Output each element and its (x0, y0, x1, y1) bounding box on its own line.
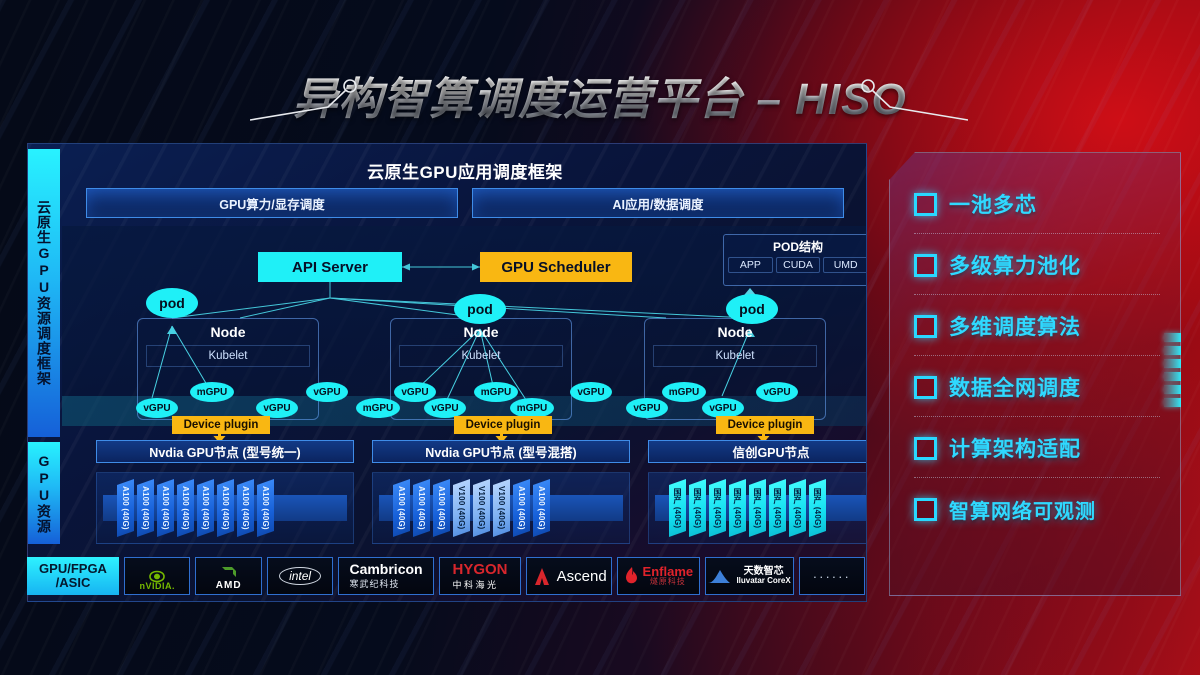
checkbox-icon (914, 376, 937, 399)
gpu-group-2-tray: A100 (40G) A100 (40G) A100 (40G) V100 (4… (372, 472, 630, 544)
node-2-gpu-0[interactable]: vGPU (394, 382, 436, 402)
feature-panel-accent (1164, 333, 1182, 419)
checkbox-icon (914, 193, 937, 216)
gpu-card[interactable]: 国产 (40G) (729, 479, 746, 537)
gpu-group-3-title: 信创GPU节点 (648, 440, 867, 463)
gpu-card[interactable]: V100 (40G) (493, 479, 510, 537)
feature-label-3: 数据全网调度 (949, 372, 1081, 402)
gpu-card[interactable]: 国产 (40G) (749, 479, 766, 537)
sidebar-tab-framework-label: 云原生GPU资源调度框架 (37, 200, 51, 386)
gpu-card-label: A100 (40G) (221, 486, 230, 530)
feature-item-5[interactable]: 智算网络可观测 (914, 480, 1164, 538)
vendor-logo-hygon[interactable]: HYGON 中 科 海 光 (439, 557, 522, 595)
feature-panel: 一池多芯 多级算力池化 多维调度算法 数据全网调度 计算架构适配 智算网络可观测 (889, 152, 1181, 596)
pod-cell-app: APP (728, 257, 773, 273)
vendor-category-label: GPU/FPGA /ASIC (27, 557, 119, 595)
node-3-pod[interactable]: pod (726, 294, 778, 324)
gpu-group-2-cards: A100 (40G) A100 (40G) A100 (40G) V100 (4… (393, 479, 550, 537)
node-3-gpu-2[interactable]: vGPU (756, 382, 798, 402)
pod-cell-umd: UMD (823, 257, 867, 273)
checkbox-icon (914, 315, 937, 338)
gpu-card[interactable]: A100 (40G) (433, 479, 450, 537)
node-1-gpu-3[interactable]: vGPU (306, 382, 348, 402)
vendor-strip: GPU/FPGA /ASIC nVIDIA. AMD intel Cambric (27, 557, 865, 595)
gpu-card-label: 国产 (40G) (792, 488, 803, 528)
vendor-name-amd: AMD (216, 580, 242, 591)
title-flourish-right (848, 62, 968, 128)
node-1-kubelet: Kubelet (146, 345, 310, 367)
feature-item-3[interactable]: 数据全网调度 (914, 358, 1164, 416)
node-3-gpu-1[interactable]: vGPU (702, 398, 744, 418)
node-3-gpu-extra[interactable]: vGPU (626, 398, 668, 418)
vendor-logo-nvidia[interactable]: nVIDIA. (124, 557, 190, 595)
feature-separator (914, 294, 1160, 295)
node-2-gpu-4[interactable]: vGPU (570, 382, 612, 402)
panel-body: 云原生GPU应用调度框架 GPU算力/显存调度 AI应用/数据调度 (62, 144, 866, 601)
vendor-subname-cambricon: 寒武纪科技 (349, 577, 422, 590)
iluvatar-wave-icon (707, 567, 731, 585)
page-title: 异构智算调度运营平台 – HISO (293, 63, 907, 127)
gpu-card[interactable]: A100 (40G) (157, 479, 174, 537)
gpu-card[interactable]: 国产 (40G) (809, 479, 826, 537)
vendor-logo-cambricon[interactable]: Cambricon 寒武纪科技 (338, 557, 433, 595)
scheduling-zone: API Server GPU Scheduler POD结构 APP CUDA … (62, 226, 866, 426)
checkbox-icon (914, 498, 937, 521)
gpu-card-label: A100 (40G) (437, 486, 446, 530)
gpu-card[interactable]: A100 (40G) (117, 479, 134, 537)
framework-bar-compute[interactable]: GPU算力/显存调度 (86, 188, 458, 218)
gpu-card[interactable]: A100 (40G) (513, 479, 530, 537)
gpu-card-label: A100 (40G) (121, 486, 130, 530)
node-2-gpu-1[interactable]: vGPU (424, 398, 466, 418)
vendor-subname-iluvatar: Iluvatar CoreX (736, 577, 790, 585)
feature-separator (914, 233, 1160, 234)
gpu-card-label: V100 (40G) (497, 486, 506, 529)
gpu-card[interactable]: A100 (40G) (177, 479, 194, 537)
title-bar: 异构智算调度运营平台 – HISO (0, 62, 1200, 128)
vendor-subname-hygon: 中 科 海 光 (453, 578, 508, 591)
node-2-name: Node (391, 324, 571, 340)
amd-arrow-icon (219, 564, 239, 580)
vendor-name-nvidia: nVIDIA. (139, 581, 175, 591)
gpu-card-label: 国产 (40G) (772, 488, 783, 528)
sidebar-tab-gpu-resource[interactable]: GPU资源 (28, 442, 60, 544)
gpu-card-label: A100 (40G) (181, 486, 190, 530)
vendor-name-hygon: HYGON (453, 562, 508, 577)
feature-separator (914, 416, 1160, 417)
feature-item-1[interactable]: 多级算力池化 (914, 236, 1164, 294)
gpu-card[interactable]: 国产 (40G) (789, 479, 806, 537)
vendor-name-ascend: Ascend (557, 568, 607, 585)
vendor-logo-intel[interactable]: intel (267, 557, 333, 595)
sidebar-tab-gpu-resource-label: GPU资源 (37, 453, 51, 534)
gpu-card[interactable]: 国产 (40G) (769, 479, 786, 537)
vendor-logo-enflame[interactable]: Enflame 燧原科技 (617, 557, 700, 595)
gpu-group-1-tray: A100 (40G) A100 (40G) A100 (40G) A100 (4… (96, 472, 354, 544)
pod-structure-box: POD结构 APP CUDA UMD (723, 234, 867, 286)
device-plugin-3[interactable]: Device plugin (716, 416, 814, 434)
gpu-card-label: 国产 (40G) (812, 488, 823, 528)
pod-structure-cells: APP CUDA UMD (724, 255, 867, 273)
pod-structure-title: POD结构 (724, 238, 867, 255)
title-flourish-left (250, 62, 370, 128)
gpu-card[interactable]: A100 (40G) (393, 479, 410, 537)
gpu-group-1-cards: A100 (40G) A100 (40G) A100 (40G) A100 (4… (117, 479, 274, 537)
gpu-card-label: A100 (40G) (241, 486, 250, 530)
feature-item-0[interactable]: 一池多芯 (914, 175, 1164, 233)
vendor-logo-iluvatar[interactable]: 天数智芯 Iluvatar CoreX (705, 557, 794, 595)
gpu-card[interactable]: A100 (40G) (197, 479, 214, 537)
gpu-card-label: A100 (40G) (261, 486, 270, 530)
vendor-name-cambricon: Cambricon (349, 562, 422, 576)
api-server-box[interactable]: API Server (258, 252, 402, 282)
feature-label-4: 计算架构适配 (949, 433, 1081, 463)
node-1-pod[interactable]: pod (146, 288, 198, 318)
gpu-card[interactable]: 国产 (40G) (689, 479, 706, 537)
node-2-kubelet: Kubelet (399, 345, 563, 367)
feature-item-4[interactable]: 计算架构适配 (914, 419, 1164, 477)
feature-item-2[interactable]: 多维调度算法 (914, 297, 1164, 355)
feature-label-1: 多级算力池化 (949, 250, 1081, 280)
gpu-card-label: 国产 (40G) (692, 488, 703, 528)
vendor-logo-ascend[interactable]: Ascend (526, 557, 612, 595)
checkbox-icon (914, 254, 937, 277)
architecture-panel: 云原生GPU资源调度框架 GPU资源 云原生GPU应用调度框架 GPU算力/显存… (27, 143, 867, 602)
framework-bar-ai[interactable]: AI应用/数据调度 (472, 188, 844, 218)
gpu-group-3-cards: 国产 (40G) 国产 (40G) 国产 (40G) 国产 (40G) 国产 (… (669, 479, 826, 537)
node-2-gpu-3[interactable]: mGPU (510, 398, 554, 418)
sidebar-tab-framework[interactable]: 云原生GPU资源调度框架 (28, 149, 60, 437)
node-3-name: Node (645, 324, 825, 340)
pod-cell-cuda: CUDA (776, 257, 821, 273)
gpu-group-3-tray: 国产 (40G) 国产 (40G) 国产 (40G) 国产 (40G) 国产 (… (648, 472, 867, 544)
vendor-logo-amd[interactable]: AMD (195, 557, 261, 595)
vendor-name-intel: intel (279, 567, 321, 585)
gpu-card-label: A100 (40G) (201, 486, 210, 530)
checkbox-icon (914, 437, 937, 460)
gpu-card-label: A100 (40G) (517, 486, 526, 530)
device-plugin-1[interactable]: Device plugin (172, 416, 270, 434)
gpu-card[interactable]: A100 (40G) (237, 479, 254, 537)
gpu-card[interactable]: A100 (40G) (413, 479, 430, 537)
node-2-pod[interactable]: pod (454, 294, 506, 324)
feature-label-5: 智算网络可观测 (949, 495, 1096, 524)
gpu-card[interactable]: A100 (40G) (217, 479, 234, 537)
vendor-subname-enflame: 燧原科技 (643, 578, 694, 586)
feature-separator (914, 355, 1160, 356)
ascend-mark-icon (532, 567, 552, 586)
node-1-name: Node (138, 324, 318, 340)
gpu-card[interactable]: A100 (40G) (533, 479, 550, 537)
node-1-gpu-4[interactable]: mGPU (356, 398, 400, 418)
node-2-gpu-2[interactable]: mGPU (474, 382, 518, 402)
vendor-label-line2: /ASIC (56, 576, 91, 590)
slide-canvas: 异构智算调度运营平台 – HISO 云原生GPU资源调度框架 GPU资源 云原生… (0, 0, 1200, 675)
gpu-resource-zone: Nvdia GPU节点 (型号统一) A100 (40G) A100 (40G)… (62, 440, 866, 555)
gpu-card-label: A100 (40G) (417, 486, 426, 530)
gpu-card[interactable]: A100 (40G) (137, 479, 154, 537)
node-1-gpu-2[interactable]: vGPU (256, 398, 298, 418)
vendor-logo-more[interactable]: ······ (799, 557, 865, 595)
gpu-card[interactable]: 国产 (40G) (709, 479, 726, 537)
gpu-group-1-title: Nvdia GPU节点 (型号统一) (96, 440, 354, 463)
gpu-card[interactable]: 国产 (40G) (669, 479, 686, 537)
gpu-card-label: A100 (40G) (141, 486, 150, 530)
gpu-group-2-title: Nvdia GPU节点 (型号混搭) (372, 440, 630, 463)
gpu-card-label: 国产 (40G) (732, 488, 743, 528)
gpu-card-label: 国产 (40G) (672, 488, 683, 528)
gpu-card-label: V100 (40G) (457, 486, 466, 529)
feature-label-2: 多维调度算法 (949, 311, 1081, 341)
gpu-card-label: A100 (40G) (537, 486, 546, 530)
gpu-scheduler-box[interactable]: GPU Scheduler (480, 252, 632, 282)
gpu-card[interactable]: A100 (40G) (257, 479, 274, 537)
gpu-card[interactable]: V100 (40G) (453, 479, 470, 537)
device-plugin-2[interactable]: Device plugin (454, 416, 552, 434)
gpu-card[interactable]: V100 (40G) (473, 479, 490, 537)
node-1-gpu-1[interactable]: mGPU (190, 382, 234, 402)
gpu-card-label: V100 (40G) (477, 486, 486, 529)
gpu-card-label: A100 (40G) (397, 486, 406, 530)
gpu-card-label: 国产 (40G) (752, 488, 763, 528)
gpu-card-label: 国产 (40G) (712, 488, 723, 528)
vendor-label-line1: GPU/FPGA (39, 562, 107, 576)
enflame-flame-icon (624, 566, 638, 585)
node-3-gpu-0[interactable]: mGPU (662, 382, 706, 402)
vendor-more-label: ······ (813, 569, 851, 584)
node-1-gpu-0[interactable]: vGPU (136, 398, 178, 418)
gpu-card-label: A100 (40G) (161, 486, 170, 530)
feature-label-0: 一池多芯 (949, 189, 1037, 219)
node-3-kubelet: Kubelet (653, 345, 817, 367)
feature-separator (914, 477, 1160, 478)
framework-heading: 云原生GPU应用调度框架 (80, 158, 850, 183)
